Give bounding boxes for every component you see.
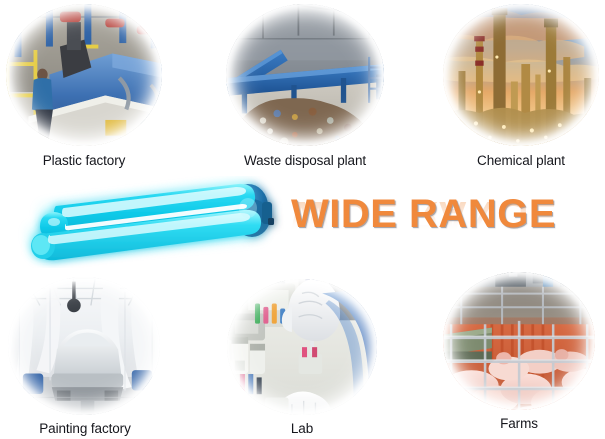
tile-farms [443,272,595,410]
farms-illustration [443,272,595,410]
tile-waste-disposal-plant [226,4,384,146]
caption-plastic-factory: Plastic factory [6,153,162,168]
painting-factory-illustration [8,277,160,415]
tile-lab [227,279,377,415]
photo-waste-disposal-plant [226,4,384,146]
photo-chemical-plant [443,4,599,146]
caption-painting-factory: Painting factory [6,421,164,436]
lab-illustration [227,279,377,415]
plastic-factory-illustration [6,4,162,146]
photo-lab [227,279,377,415]
waste-disposal-illustration [226,4,384,146]
photo-painting-factory [8,277,160,415]
headline-wordmark: WIDE RANGE WIDE RANGE [291,193,591,268]
caption-farms: Farms [443,416,595,431]
caption-lab: Lab [227,421,377,436]
tile-chemical-plant [443,4,599,146]
tile-painting-factory [8,277,160,415]
uv-lamp-graphic [12,176,304,268]
caption-chemical-plant: Chemical plant [441,153,601,168]
headline-reflection: WIDE RANGE [291,194,556,236]
tile-plastic-factory [6,4,162,146]
photo-farms [443,272,595,410]
photo-plastic-factory [6,4,162,146]
chemical-plant-illustration [443,4,599,146]
poster-canvas: Plastic factory [0,0,605,439]
caption-waste-disposal-plant: Waste disposal plant [222,153,388,168]
uv-lamp-tube-svg [12,176,304,268]
